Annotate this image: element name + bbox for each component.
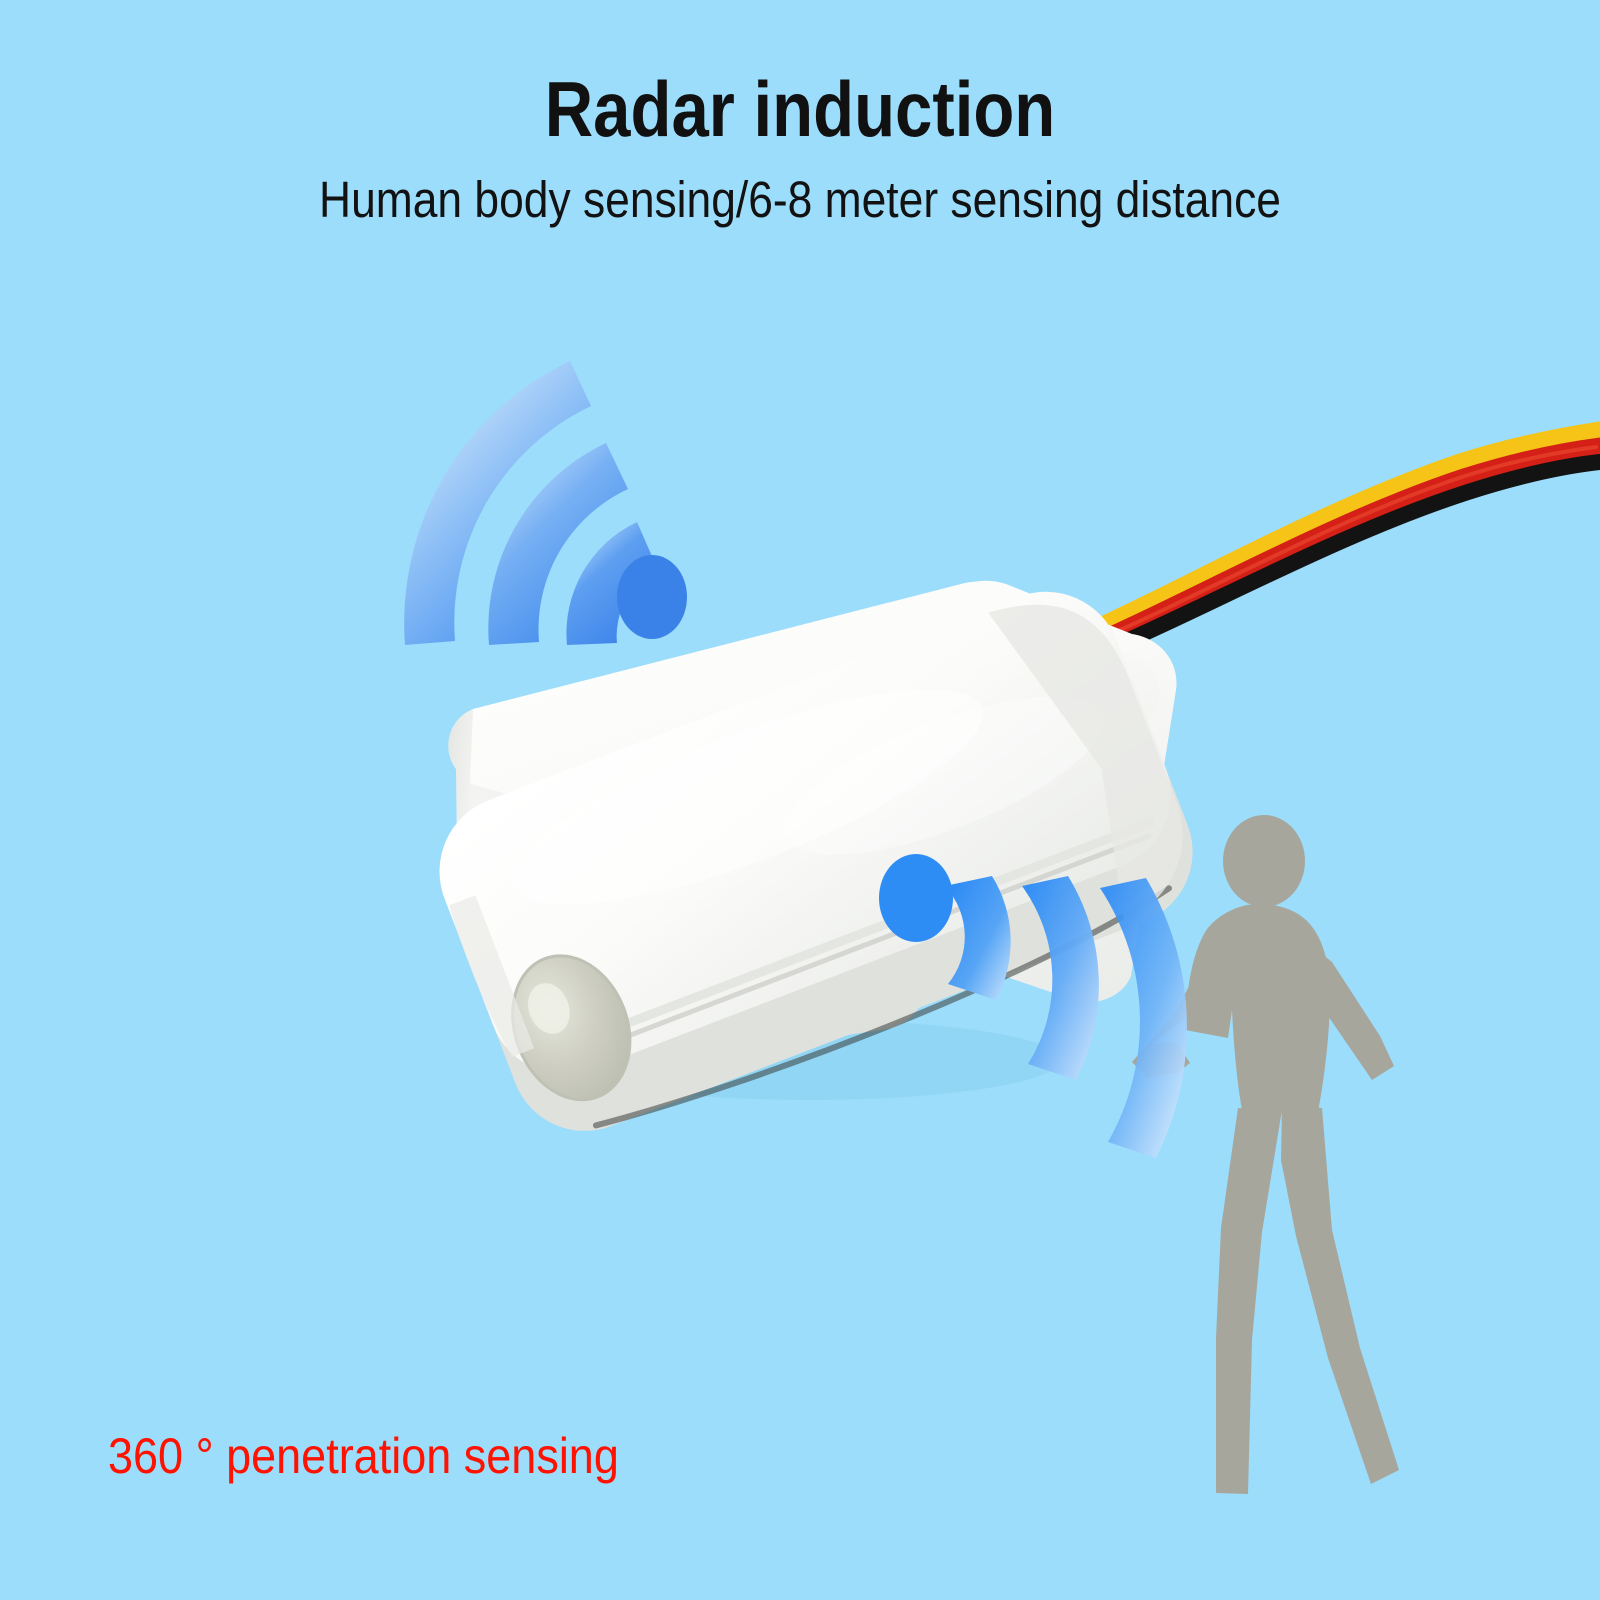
device-face-top: [448, 582, 1159, 897]
walking-person-silhouette: [0, 0, 1600, 1600]
sensor-cable: [0, 0, 1600, 1600]
person-torso: [1185, 904, 1330, 1115]
device-lens: [492, 939, 650, 1117]
device-face-front: [470, 784, 929, 1069]
person-arm-front: [1302, 940, 1394, 1080]
page-title: Radar induction: [112, 66, 1488, 152]
device-top-face: [470, 581, 1177, 1002]
person-head: [1223, 815, 1305, 907]
black-wire: [1104, 462, 1600, 651]
feature-callout: 360 ° penetration sensing: [108, 1426, 619, 1486]
page-subtitle: Human body sensing/6-8 meter sensing dis…: [104, 170, 1496, 230]
radar-wave-lower-right: [0, 0, 1600, 1600]
person-leg-front: [1281, 1105, 1399, 1484]
device-shadow: [560, 1020, 1060, 1100]
device-body: [436, 558, 1165, 1083]
red-wire-highlight: [1120, 447, 1596, 630]
person-leg-rear: [1216, 1108, 1282, 1494]
radar-sensor-device: [0, 0, 1600, 1600]
device-clean: [417, 570, 1217, 1159]
radar-wave-upper-left-dot: [617, 555, 687, 639]
device-top-panel: [481, 558, 1165, 822]
radar-wave-lower-right-arcs: [945, 876, 1187, 1158]
person-arm-rear: [1132, 982, 1213, 1078]
radar-wave-upper-left: [0, 0, 1600, 1600]
device-outline: [436, 574, 1158, 1083]
yellow-wire: [1096, 430, 1600, 628]
red-wire: [1100, 446, 1600, 640]
radar-wave-upper-left-arcs: [404, 361, 658, 645]
device-face-left-end: [448, 709, 498, 906]
radar-wave-lower-right-dot: [879, 854, 953, 942]
product-poster: Radar induction Human body sensing/6-8 m…: [0, 0, 1600, 1600]
